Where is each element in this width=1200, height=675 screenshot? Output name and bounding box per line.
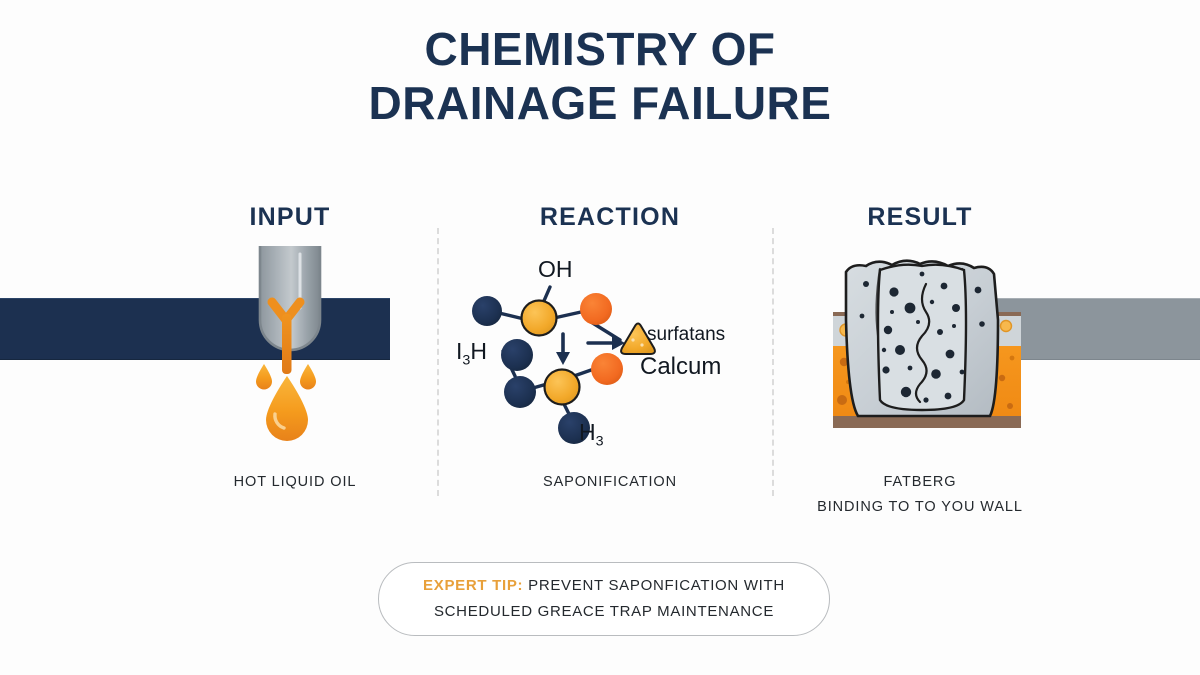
- caption-reaction: SAPONIFICATION: [460, 470, 760, 495]
- expert-tip-line-2: SCHEDULED GREACE TRAP MAINTENANCE: [434, 603, 774, 620]
- molecule-node-orange-bottom: [591, 353, 623, 385]
- caption-input: HOT LIQUID OIL: [150, 470, 440, 495]
- infographic-canvas: CHEMISTRY OF DRAINAGE FAILURE INPUT REAC…: [0, 0, 1200, 675]
- result-illustration: [822, 250, 1032, 450]
- column-divider-1: [437, 228, 439, 496]
- oil-droplet-small-left: [256, 364, 272, 390]
- molecule-node-navy-lower-left: [504, 376, 536, 408]
- expert-tip-text: EXPERT TIP: PREVENT SAPONFICATION WITH S…: [379, 573, 829, 626]
- molecule-label-surfactants: surfatans: [647, 324, 725, 346]
- molecule-node-amber-bottom: [545, 370, 580, 405]
- column-header-reaction: REACTION: [460, 203, 760, 232]
- column-divider-2: [772, 228, 774, 496]
- caption-result-line-1: FATBERG: [790, 470, 1050, 495]
- molecule-label-h3: H3: [579, 419, 604, 450]
- oil-droplet-small-right: [300, 364, 316, 390]
- caption-result-line-2: BINDING TO TO YOU WALL: [790, 495, 1050, 520]
- expert-tip-line-1: PREVENT SAPONFICATION WITH: [523, 577, 785, 594]
- molecule-label-oh: OH: [538, 256, 573, 283]
- reaction-arrow-down: [556, 334, 570, 365]
- title-line-1: CHEMISTRY OF: [424, 23, 775, 75]
- molecule-label-i3h: I3H: [456, 338, 487, 369]
- expert-tip-lead: EXPERT TIP:: [423, 577, 523, 594]
- reaction-illustration: OH I3H H3 surfatans Calcum: [462, 256, 762, 456]
- molecule-label-h3-sub: 3: [596, 434, 604, 450]
- molecule-node-amber-top: [522, 301, 557, 336]
- molecule-node-navy-mid-left: [501, 339, 533, 371]
- input-illustration: [212, 246, 412, 452]
- page-title: CHEMISTRY OF DRAINAGE FAILURE: [0, 22, 1200, 131]
- caption-result: FATBERG BINDING TO TO YOU WALL: [790, 470, 1050, 519]
- molecule-label-h3-main: H: [579, 419, 596, 445]
- molecule-node-orange-top: [580, 293, 612, 325]
- molecule-node-navy-top-left: [472, 296, 502, 326]
- fatberg-mass-icon: [846, 261, 998, 416]
- molecule-label-i3h-tail: H: [470, 338, 487, 364]
- expert-tip-banner: EXPERT TIP: PREVENT SAPONFICATION WITH S…: [378, 562, 830, 636]
- column-header-input: INPUT: [140, 203, 440, 232]
- column-header-result: RESULT: [790, 203, 1050, 232]
- title-line-2: DRAINAGE FAILURE: [0, 76, 1200, 130]
- molecule-label-calcium: Calcum: [640, 353, 721, 381]
